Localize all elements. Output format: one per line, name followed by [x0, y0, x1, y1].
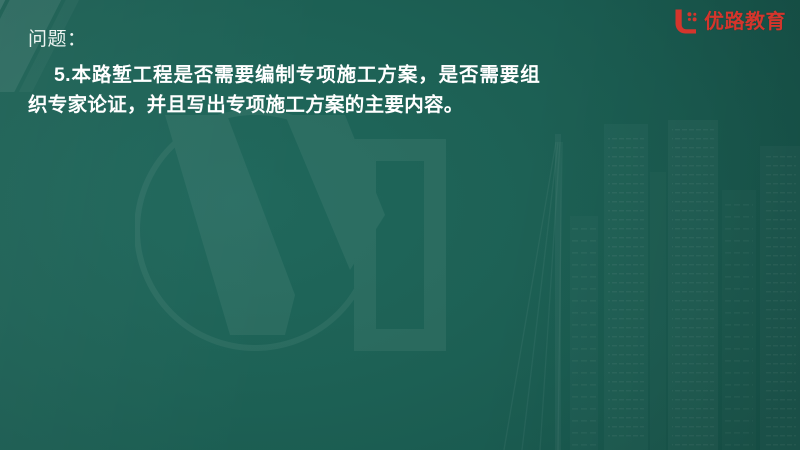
question-block: 问题： 5.本路堑工程是否需要编制专项施工方案，是否需要组织专家论证，并且写出专… [28, 26, 560, 121]
question-text: 5.本路堑工程是否需要编制专项施工方案，是否需要组织专家论证，并且写出专项施工方… [28, 60, 540, 122]
section-label: 问题： [28, 26, 560, 54]
youlu-logo-icon [673, 8, 699, 34]
brand-logo: 优路教育 [673, 7, 786, 35]
brand-name: 优路教育 [704, 11, 786, 31]
slide-canvas: 优路教育 问题： 5.本路堑工程是否需要编制专项施工方案，是否需要组织专家论证，… [0, 0, 800, 450]
